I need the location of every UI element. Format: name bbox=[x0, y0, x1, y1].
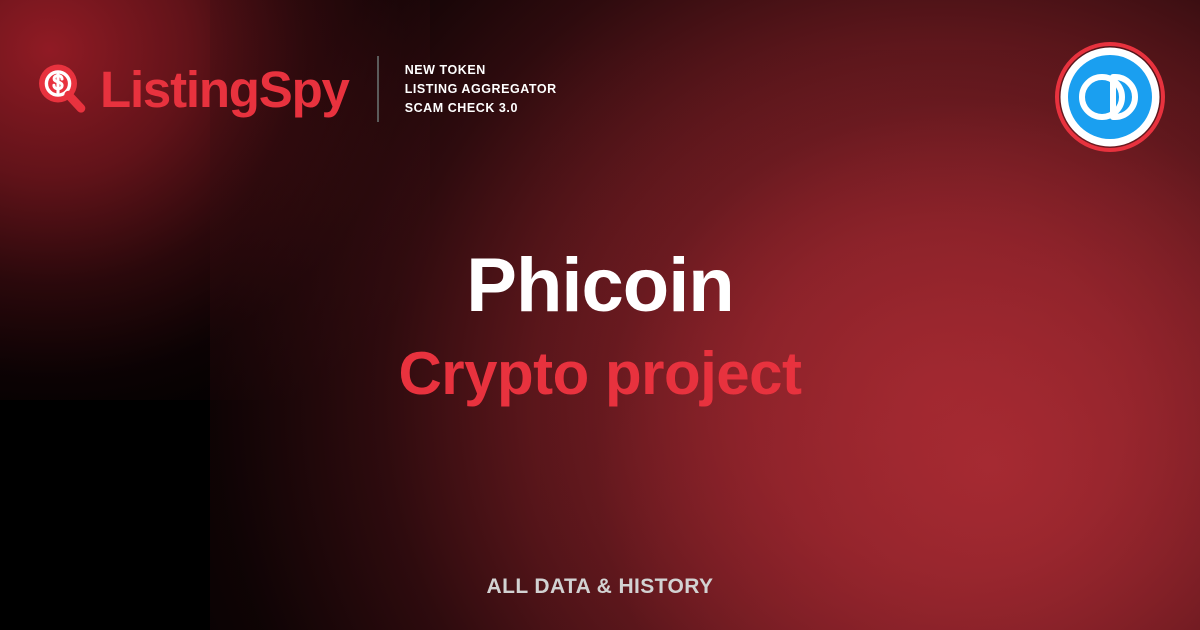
brand-wordmark: ListingSpy bbox=[100, 64, 349, 115]
tagline-line-1: NEW TOKEN bbox=[405, 61, 557, 80]
tagline-line-3: SCAM CHECK 3.0 bbox=[405, 99, 557, 118]
brand-tagline: NEW TOKEN LISTING AGGREGATOR SCAM CHECK … bbox=[405, 61, 557, 118]
og-card: ListingSpy NEW TOKEN LISTING AGGREGATOR … bbox=[0, 0, 1200, 630]
brand-name-part1: Listing bbox=[100, 61, 259, 118]
footer-caption: ALL DATA & HISTORY bbox=[487, 575, 714, 598]
brand-header: ListingSpy NEW TOKEN LISTING AGGREGATOR … bbox=[36, 56, 557, 122]
page-subtitle: Crypto project bbox=[0, 344, 1200, 404]
footer: ALL DATA & HISTORY bbox=[0, 575, 1200, 599]
magnifier-dollar-icon bbox=[36, 62, 90, 116]
header-divider bbox=[377, 56, 379, 122]
page-title: Phicoin bbox=[0, 248, 1200, 324]
tagline-line-2: LISTING AGGREGATOR bbox=[405, 80, 557, 99]
phicoin-logo-icon bbox=[1055, 42, 1165, 152]
headline-block: Phicoin Crypto project bbox=[0, 248, 1200, 404]
brand-name-part2: Spy bbox=[259, 61, 349, 118]
